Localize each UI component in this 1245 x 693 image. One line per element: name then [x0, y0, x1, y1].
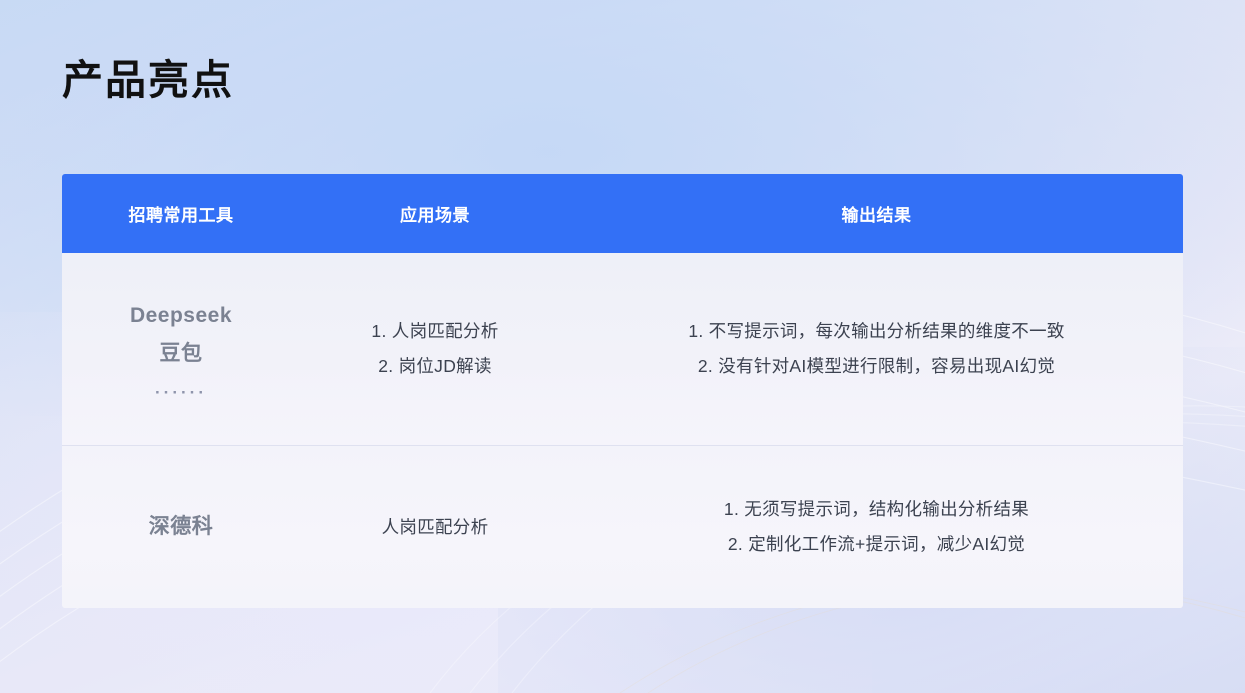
table-row: 深德科 人岗匹配分析 1. 无须写提示词，结构化输出分析结果 2. 定制化工作流…: [62, 445, 1183, 608]
page-title: 产品亮点: [62, 56, 234, 105]
output-line: 2. 没有针对AI模型进行限制，容易出现AI幻觉: [578, 349, 1175, 384]
tool-name-line: Deepseek: [70, 297, 292, 334]
cell-output: 1. 无须写提示词，结构化输出分析结果 2. 定制化工作流+提示词，减少AI幻觉: [570, 492, 1183, 562]
table-header-row: 招聘常用工具 应用场景 输出结果: [62, 174, 1183, 253]
cell-scenario: 1. 人岗匹配分析 2. 岗位JD解读: [300, 314, 570, 384]
cell-tools: 深德科: [62, 508, 300, 545]
column-header-output: 输出结果: [570, 201, 1183, 226]
tool-name-line: 深德科: [70, 508, 292, 545]
scenario-line: 1. 人岗匹配分析: [308, 314, 562, 349]
column-header-scenario: 应用场景: [300, 201, 570, 226]
row-divider: [62, 445, 1183, 446]
slide-canvas: 产品亮点 招聘常用工具 应用场景 输出结果 Deepseek 豆包 ······…: [0, 0, 1245, 693]
output-line: 2. 定制化工作流+提示词，减少AI幻觉: [578, 527, 1175, 562]
cell-tools: Deepseek 豆包 ······: [62, 297, 300, 401]
column-header-tools: 招聘常用工具: [62, 201, 300, 226]
highlights-table: 招聘常用工具 应用场景 输出结果 Deepseek 豆包 ······ 1. 人…: [62, 174, 1183, 608]
tool-name-line: 豆包: [70, 335, 292, 372]
tool-ellipsis: ······: [70, 384, 292, 401]
cell-scenario: 人岗匹配分析: [300, 513, 570, 541]
scenario-line: 2. 岗位JD解读: [308, 349, 562, 384]
scenario-line: 人岗匹配分析: [308, 513, 562, 541]
cell-output: 1. 不写提示词，每次输出分析结果的维度不一致 2. 没有针对AI模型进行限制，…: [570, 314, 1183, 384]
output-line: 1. 不写提示词，每次输出分析结果的维度不一致: [578, 314, 1175, 349]
table-row: Deepseek 豆包 ······ 1. 人岗匹配分析 2. 岗位JD解读 1…: [62, 253, 1183, 445]
output-line: 1. 无须写提示词，结构化输出分析结果: [578, 492, 1175, 527]
